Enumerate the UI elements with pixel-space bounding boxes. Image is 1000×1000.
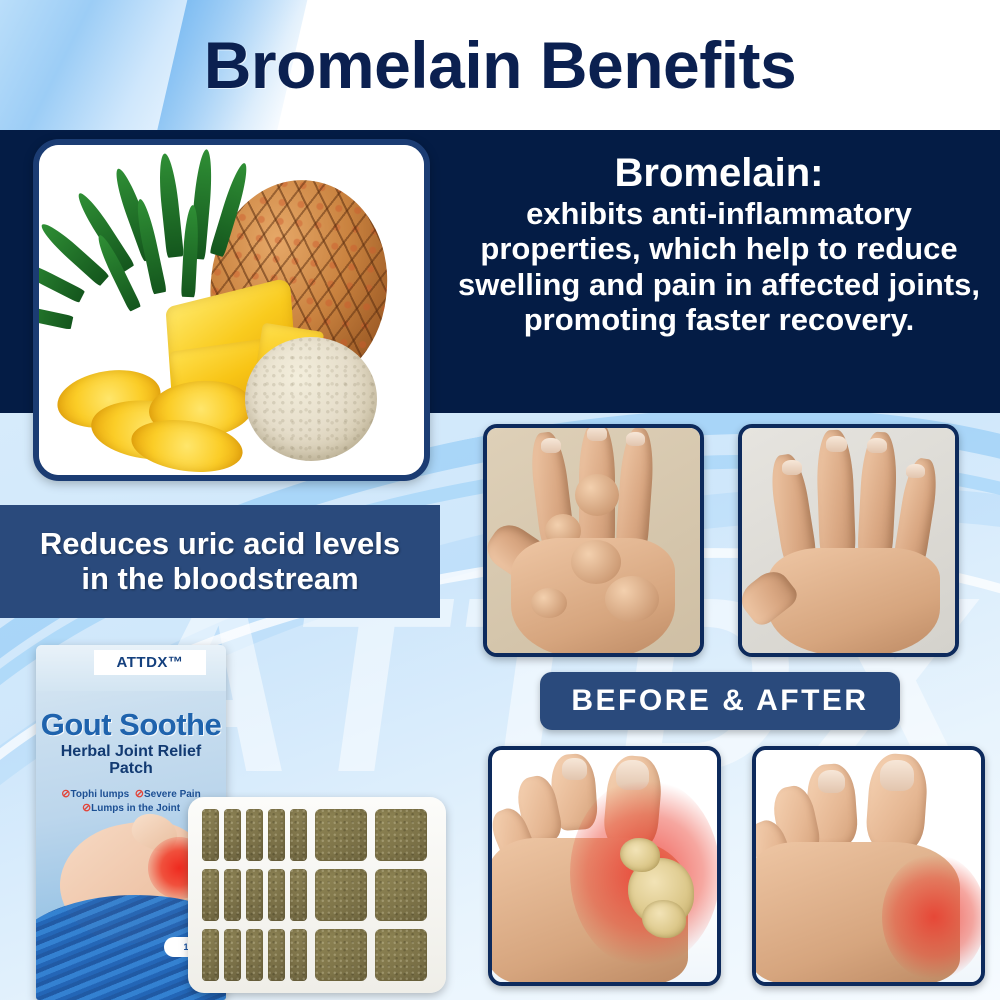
benefit-band: Reduces uric acid levels in the bloodstr… [0, 505, 440, 618]
page-title: Bromelain Benefits [0, 0, 1000, 130]
patch-strip [246, 869, 263, 921]
hand-after-photo [738, 424, 959, 657]
product-subtitle-line-1: Herbal Joint Relief [36, 743, 226, 760]
benefit-line-1: Reduces uric acid levels [40, 527, 400, 562]
patch-strip [268, 809, 285, 861]
hero-lead: Bromelain: [445, 152, 993, 194]
bromelain-powder-disc [245, 337, 377, 461]
product-bullet-2: Severe Pain [144, 789, 201, 800]
product-name: Gout Soothe [36, 707, 226, 743]
hero-body-line-1: exhibits anti-inflammatory [445, 196, 993, 231]
hero-text-block: Bromelain: exhibits anti-inflammatory pr… [445, 152, 993, 337]
patch-strip [268, 869, 285, 921]
product-subtitle: Herbal Joint Relief Patch [36, 743, 226, 778]
before-after-banner: BEFORE & AFTER [540, 672, 900, 730]
pineapple-leaf [181, 205, 200, 298]
foot-before-image [492, 750, 717, 982]
patch-strip [224, 869, 241, 921]
patch-row [202, 869, 432, 921]
hero-body-line-3: swelling and pain in affected joints, [445, 267, 993, 302]
patch-pad [375, 869, 427, 921]
patch-strip [290, 929, 307, 981]
check-icon: ⊘ [135, 788, 144, 800]
foot-after-image [756, 750, 981, 982]
patch-strip [268, 929, 285, 981]
pineapple-leaf [33, 302, 73, 330]
patch-pad [315, 809, 367, 861]
hand-after-image [742, 428, 955, 653]
header-bar: Bromelain Benefits [0, 0, 1000, 130]
product-bullet-1: Tophi lumps [71, 789, 130, 800]
patch-strip [202, 809, 219, 861]
check-icon: ⊘ [82, 802, 91, 814]
patch-strip [246, 929, 263, 981]
brand-logo: ATTDX™ [94, 650, 206, 675]
patch-strip [246, 809, 263, 861]
patch-strip [202, 929, 219, 981]
patch-strip [224, 929, 241, 981]
hand-before-photo [483, 424, 704, 657]
hero-body-line-2: properties, which help to reduce [445, 231, 993, 266]
before-after-label: BEFORE & AFTER [571, 684, 868, 718]
foot-after-photo [752, 746, 985, 986]
patch-pad [375, 929, 427, 981]
pineapple-image [39, 145, 424, 475]
patch-row [202, 929, 432, 981]
infographic-page: ATTDX Bromelain Benefits Bromelain: exhi… [0, 0, 1000, 1000]
patch-strip [290, 869, 307, 921]
pineapple-leaf [156, 153, 184, 258]
patch-pad [315, 869, 367, 921]
benefit-line-2: in the bloodstream [40, 562, 400, 597]
patch-pad [375, 809, 427, 861]
check-icon: ⊘ [61, 788, 70, 800]
patch-row [202, 809, 432, 861]
patch-strip [202, 869, 219, 921]
patch-pad [315, 929, 367, 981]
patch-strip [290, 809, 307, 861]
patch-strip [224, 809, 241, 861]
hero-body-line-4: promoting faster recovery. [445, 302, 993, 337]
product-bullet-3: Lumps in the Joint [91, 803, 180, 814]
patch-sheet [188, 797, 446, 993]
hand-before-image [487, 428, 700, 653]
foot-before-photo [488, 746, 721, 986]
ingredient-photo-card [33, 139, 430, 481]
product-subtitle-line-2: Patch [36, 760, 226, 777]
